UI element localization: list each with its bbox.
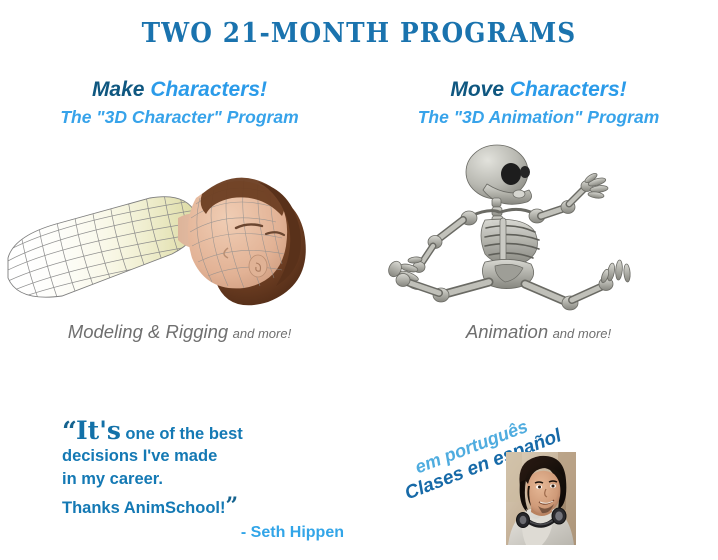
testimonial: “It's one of the best decisions I've mad… (62, 418, 362, 542)
quote-close-mark: ” (226, 493, 238, 519)
instructor-photo (506, 452, 576, 545)
quote-line-3: in my career. (62, 469, 362, 491)
program-title-noun: Characters! (510, 78, 627, 101)
program-title-verb: Make (92, 78, 145, 101)
caption-suffix-animation: and more! (553, 326, 612, 341)
caption-main-character: Modeling & Rigging (68, 321, 228, 342)
quote-lead-word: It's (76, 416, 121, 445)
quote-line-1: “It's one of the best (62, 418, 362, 445)
artwork-3d-character-head-wireframe (0, 136, 359, 321)
program-column-character: Make Characters! The "3D Character" Prog… (0, 78, 359, 343)
caption-suffix-character: and more! (233, 326, 292, 341)
program-subtitle-animation: The "3D Animation" Program (359, 107, 718, 128)
program-title-noun: Characters! (150, 78, 267, 101)
caption-animation: Animation and more! (359, 321, 718, 343)
artwork-3d-skeleton-rig-running (359, 136, 718, 321)
page-title: TWO 21-MONTH PROGRAMS (29, 18, 690, 49)
testimonial-attribution: - Seth Hippen (62, 524, 362, 542)
quote-open-mark: “ (62, 417, 76, 447)
caption-character: Modeling & Rigging and more! (0, 321, 359, 343)
promo-slide: TWO 21-MONTH PROGRAMS Make Characters! T… (0, 0, 718, 560)
program-title-verb: Move (450, 78, 504, 101)
program-title-animation: Move Characters! (359, 78, 718, 103)
program-title-character: Make Characters! (0, 78, 359, 103)
caption-main-animation: Animation (466, 321, 548, 342)
program-columns: Make Characters! The "3D Character" Prog… (0, 78, 718, 343)
program-subtitle-character: The "3D Character" Program (0, 107, 359, 128)
quote-line-4-text: Thanks AnimSchool! (62, 499, 226, 517)
quote-line-2: decisions I've made (62, 446, 362, 468)
quote-line-4: Thanks AnimSchool!” (62, 492, 362, 521)
program-column-animation: Move Characters! The "3D Animation" Prog… (359, 78, 718, 343)
quote-line-1-rest: one of the best (125, 425, 242, 443)
